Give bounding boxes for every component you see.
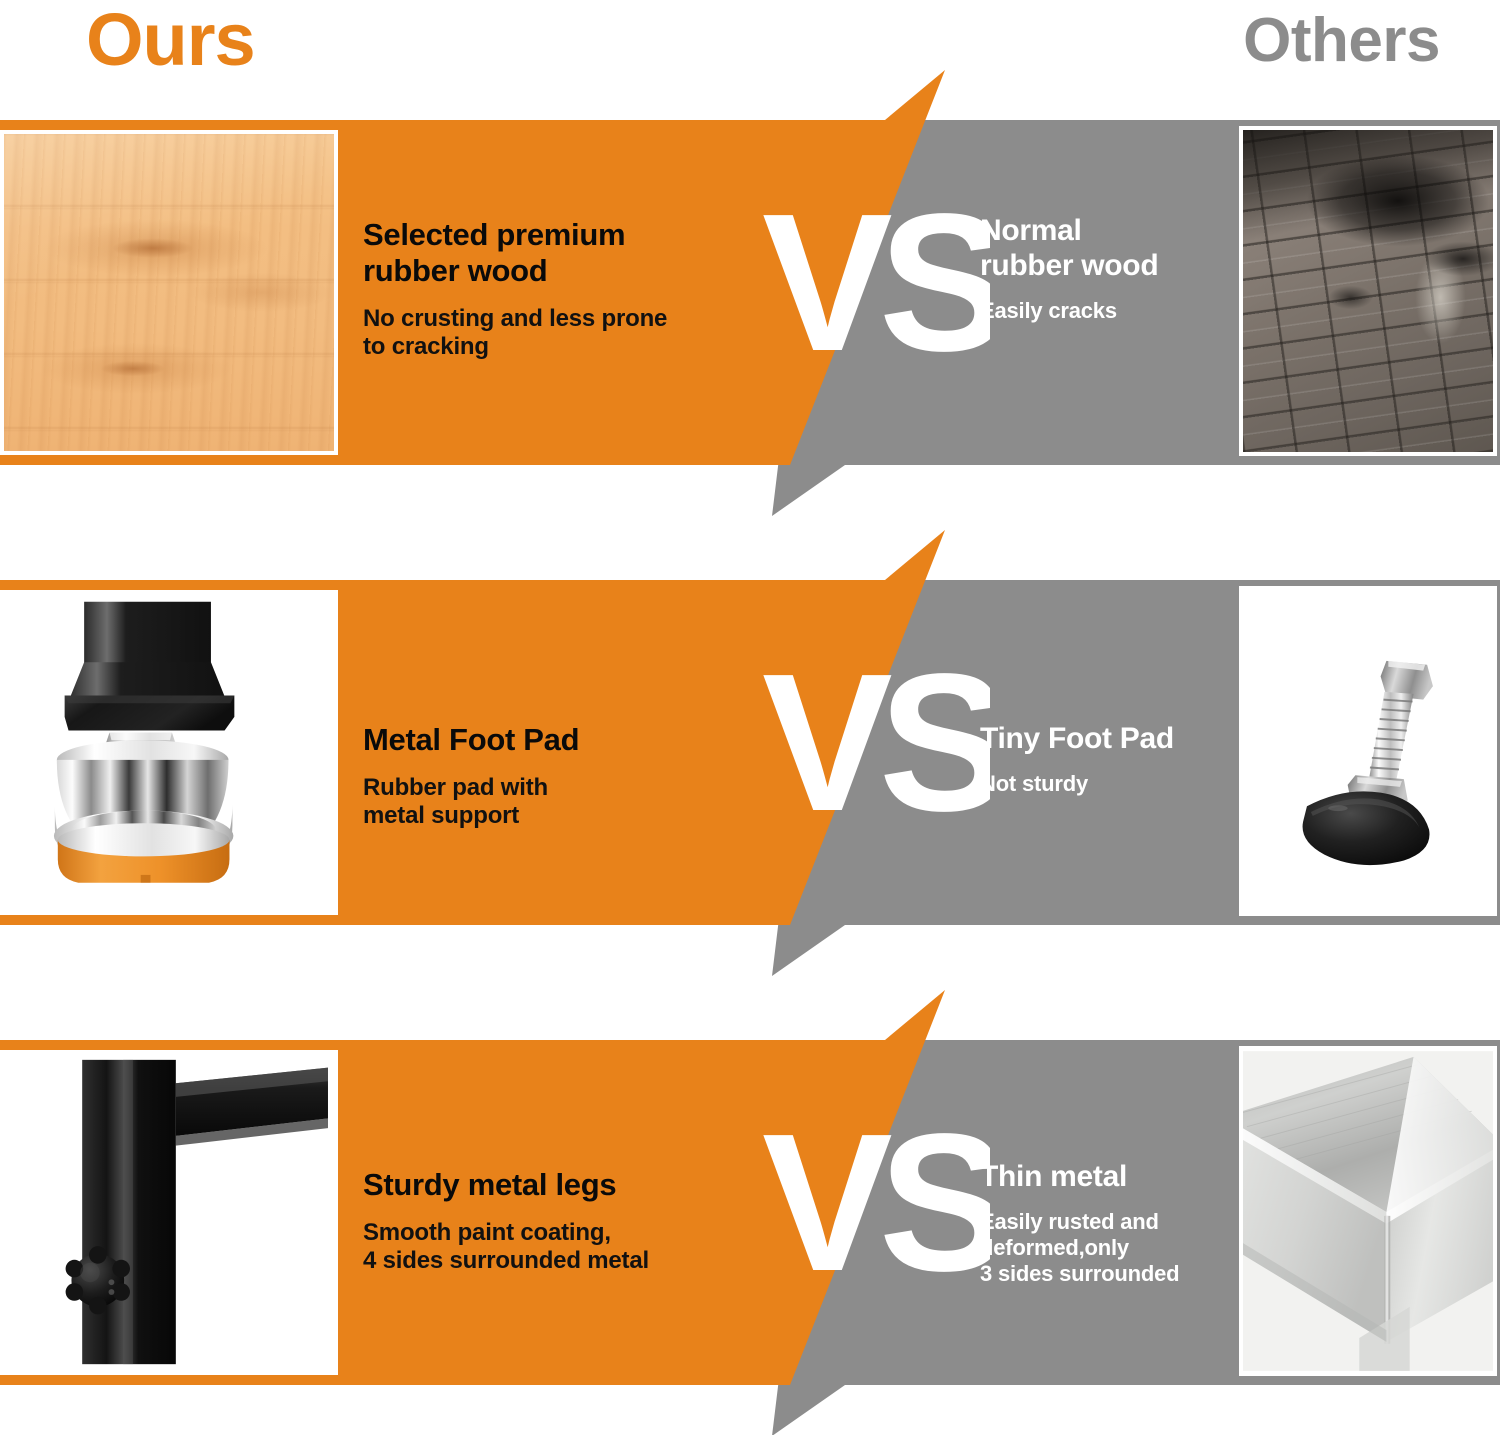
others-text-block: Normal rubber wood Easily cracks — [980, 214, 1270, 324]
comparison-row-metal-legs: Sturdy metal legs Smooth paint coating, … — [0, 982, 1500, 1435]
ours-subtitle-line-2: 4 sides surrounded metal — [363, 1247, 733, 1275]
others-title: Tiny Foot Pad — [980, 722, 1270, 757]
cracked-rubber-wood-photo — [1243, 130, 1493, 452]
comparison-infographic: Ours Others Selected premium rubber wood — [0, 0, 1500, 1435]
others-image-frame — [1239, 126, 1497, 456]
metal-foot-pad-photo — [4, 594, 334, 911]
comparison-row-rubber-wood: Selected premium rubber wood No crusting… — [0, 62, 1500, 518]
comparison-row-foot-pad: Metal Foot Pad Rubber pad with metal sup… — [0, 522, 1500, 978]
ours-subtitle: No crusting and less prone to cracking — [363, 305, 733, 362]
others-text-block: Thin metal Easily rusted and deformed,on… — [980, 1160, 1270, 1287]
ours-subtitle-line-2: to cracking — [363, 333, 733, 361]
ours-subtitle: Rubber pad with metal support — [363, 774, 733, 831]
ours-title-line-1: Selected premium — [363, 217, 733, 253]
ours-image-frame — [0, 1050, 338, 1375]
ours-subtitle: Smooth paint coating, 4 sides surrounded… — [363, 1219, 733, 1276]
others-subtitle-line-1: Not sturdy — [980, 771, 1270, 797]
ours-subtitle-line-1: Smooth paint coating, — [363, 1219, 733, 1247]
ours-title: Selected premium rubber wood — [363, 217, 733, 289]
ours-title: Sturdy metal legs — [363, 1167, 733, 1203]
others-subtitle-line-1: Easily cracks — [980, 298, 1270, 324]
tiny-foot-pad-photo — [1243, 590, 1493, 912]
ours-image-frame — [0, 130, 338, 455]
ours-title-line-1: Metal Foot Pad — [363, 722, 733, 758]
ours-subtitle-line-2: metal support — [363, 802, 733, 830]
others-subtitle: Not sturdy — [980, 771, 1270, 797]
ours-text-block: Metal Foot Pad Rubber pad with metal sup… — [363, 722, 733, 831]
ours-text-block: Sturdy metal legs Smooth paint coating, … — [363, 1167, 733, 1276]
others-title-line-1: Thin metal — [980, 1160, 1270, 1195]
ours-title-line-1: Sturdy metal legs — [363, 1167, 733, 1203]
others-subtitle-line-1: Easily rusted and — [980, 1209, 1270, 1235]
thin-stainless-table-corner-photo — [1243, 1050, 1493, 1372]
others-title: Thin metal — [980, 1160, 1270, 1195]
ours-title-line-2: rubber wood — [363, 253, 733, 289]
others-text-block: Tiny Foot Pad Not sturdy — [980, 722, 1270, 797]
others-subtitle: Easily rusted and deformed,only 3 sides … — [980, 1209, 1270, 1287]
others-title-line-1: Tiny Foot Pad — [980, 722, 1270, 757]
others-title-line-2: rubber wood — [980, 249, 1270, 284]
ours-title: Metal Foot Pad — [363, 722, 733, 758]
sturdy-black-metal-leg-photo — [4, 1054, 334, 1371]
ours-subtitle-line-1: No crusting and less prone — [363, 305, 733, 333]
others-subtitle-line-2: deformed,only — [980, 1235, 1270, 1261]
ours-subtitle-line-1: Rubber pad with — [363, 774, 733, 802]
others-title-line-1: Normal — [980, 214, 1270, 249]
others-subtitle: Easily cracks — [980, 298, 1270, 324]
ours-text-block: Selected premium rubber wood No crusting… — [363, 217, 733, 362]
others-image-frame — [1239, 586, 1497, 916]
premium-rubber-wood-board-photo — [4, 134, 334, 451]
ours-image-frame — [0, 590, 338, 915]
others-image-frame — [1239, 1046, 1497, 1376]
others-subtitle-line-3: 3 sides surrounded — [980, 1261, 1270, 1287]
others-title: Normal rubber wood — [980, 214, 1270, 284]
